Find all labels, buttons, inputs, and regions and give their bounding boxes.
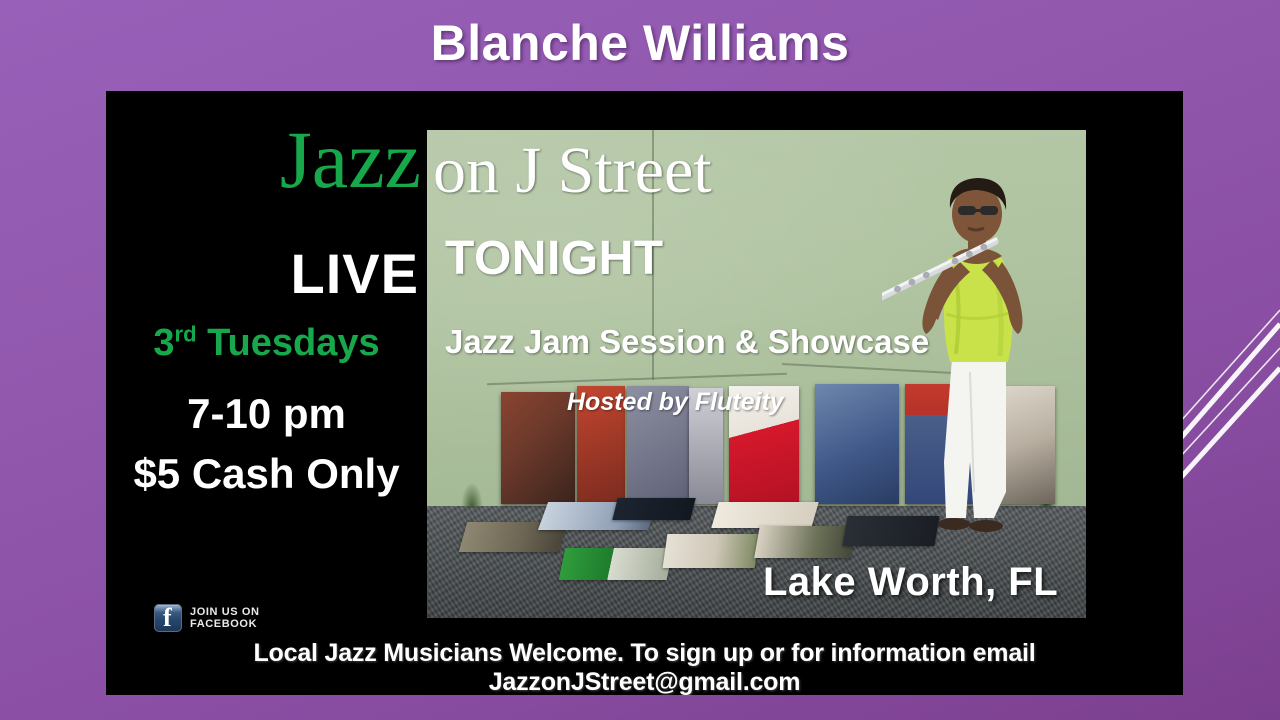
jazz-flyer-image: Jazz LIVE 3rd Tuesdays 7-10 pm $5 Cash O… <box>106 91 1183 695</box>
event-price: $5 Cash Only <box>106 453 427 495</box>
schedule-day: Tuesdays <box>197 322 380 364</box>
tonight-label: TONIGHT <box>445 235 664 283</box>
flyer-left-column: Jazz LIVE 3rd Tuesdays 7-10 pm $5 Cash O… <box>106 91 427 621</box>
event-location: Lake Worth, FL <box>763 562 1058 602</box>
flutist-performer <box>882 162 1067 582</box>
record-album <box>501 392 575 504</box>
record-album <box>754 526 856 558</box>
facebook-badge-text: JOIN US ON FACEBOOK <box>190 606 260 630</box>
live-label: LIVE <box>106 246 427 302</box>
facebook-icon[interactable] <box>154 604 182 632</box>
record-album <box>711 502 818 528</box>
facebook-line-1: JOIN US ON <box>190 606 260 618</box>
record-album <box>559 548 674 580</box>
event-subtitle: Jazz Jam Session & Showcase <box>445 325 929 358</box>
weed-plant <box>461 482 483 508</box>
schedule-label: 3rd Tuesdays <box>106 324 427 362</box>
jazz-wordmark: Jazz <box>106 119 427 201</box>
presentation-slide: Blanche Williams Jazz LIVE 3rd Tuesdays … <box>0 0 1280 720</box>
event-photo: on J Street TONIGHT Jazz Jam Session & S… <box>427 130 1086 618</box>
event-host: Hosted by Fluteity <box>567 390 784 415</box>
event-time: 7-10 pm <box>106 393 427 435</box>
facebook-line-2: FACEBOOK <box>190 618 260 630</box>
wall-crack <box>487 373 787 385</box>
record-album <box>612 498 695 520</box>
page-title: Blanche Williams <box>0 14 1280 72</box>
schedule-ordinal: rd <box>175 321 197 346</box>
facebook-badge[interactable]: JOIN US ON FACEBOOK <box>154 604 260 632</box>
record-album <box>663 534 760 568</box>
contact-info: Local Jazz Musicians Welcome. To sign up… <box>106 639 1183 697</box>
schedule-number: 3 <box>153 322 174 364</box>
flyer-headline: on J Street <box>433 138 712 204</box>
